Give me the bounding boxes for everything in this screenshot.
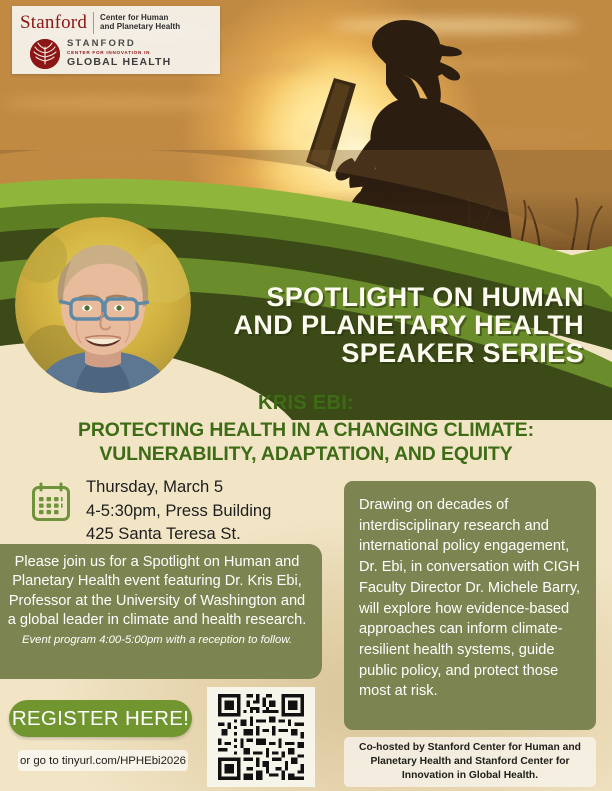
description-body: Drawing on decades of interdisciplinary …	[359, 495, 582, 702]
speaker-name: KRIS EBI:	[0, 392, 612, 415]
event-address: 425 Santa Teresa St.	[86, 522, 271, 546]
talk-title-line-1: PROTECTING HEALTH IN A CHANGING CLIMATE:	[0, 418, 612, 442]
logo-lockup: Stanford Center for Human and Planetary …	[12, 6, 220, 74]
center-name-line2: and Planetary Health	[100, 22, 180, 31]
event-time-place: 4-5:30pm, Press Building	[86, 499, 271, 523]
event-poster: Stanford Center for Human and Planetary …	[0, 0, 612, 791]
calendar-icon	[30, 480, 72, 524]
cohost-footer: Co-hosted by Stanford Center for Human a…	[344, 737, 596, 787]
stanford-cigh-logo: STANFORD CENTER FOR INNOVATION IN GLOBAL…	[20, 39, 214, 69]
cigh-line2: CENTER FOR INNOVATION IN	[67, 51, 171, 56]
qr-code-icon[interactable]	[207, 687, 315, 787]
talk-title-line-2: VULNERABILITY, ADAPTATION, AND EQUITY	[0, 442, 612, 466]
invite-body: Please join us for a Spotlight on Human …	[6, 553, 308, 630]
title-line-2: AND PLANETARY HEALTH	[0, 312, 584, 340]
cigh-line3: GLOBAL HEALTH	[67, 57, 171, 68]
register-button[interactable]: REGISTER HERE!	[9, 700, 192, 737]
alt-url-label[interactable]: or go to tinyurl.com/HPHEbi2026	[18, 750, 188, 771]
logo-divider	[93, 12, 94, 34]
event-details: Thursday, March 5 4-5:30pm, Press Buildi…	[30, 475, 271, 546]
title-line-1: SPOTLIGHT ON HUMAN	[0, 284, 584, 312]
description-panel: Drawing on decades of interdisciplinary …	[344, 481, 596, 730]
talk-title: PROTECTING HEALTH IN A CHANGING CLIMATE:…	[0, 418, 612, 466]
stanford-tree-seal-icon	[30, 39, 60, 69]
center-name: Center for Human and Planetary Health	[100, 14, 180, 32]
invite-panel: Please join us for a Spotlight on Human …	[0, 544, 322, 679]
page-title: SPOTLIGHT ON HUMAN AND PLANETARY HEALTH …	[0, 284, 598, 367]
event-date: Thursday, March 5	[86, 475, 271, 499]
cigh-wordmark: STANFORD CENTER FOR INNOVATION IN GLOBAL…	[67, 39, 171, 68]
cohost-text: Co-hosted by Stanford Center for Human a…	[354, 741, 586, 782]
invite-note: Event program 4:00-5:00pm with a recepti…	[6, 634, 308, 648]
title-line-3: SPEAKER SERIES	[0, 340, 584, 368]
cigh-line1: STANFORD	[67, 39, 171, 49]
stanford-wordmark: Stanford	[20, 13, 87, 32]
event-detail-lines: Thursday, March 5 4-5:30pm, Press Buildi…	[86, 475, 271, 546]
stanford-cphp-logo: Stanford Center for Human and Planetary …	[20, 12, 214, 34]
center-name-line1: Center for Human	[100, 13, 168, 22]
